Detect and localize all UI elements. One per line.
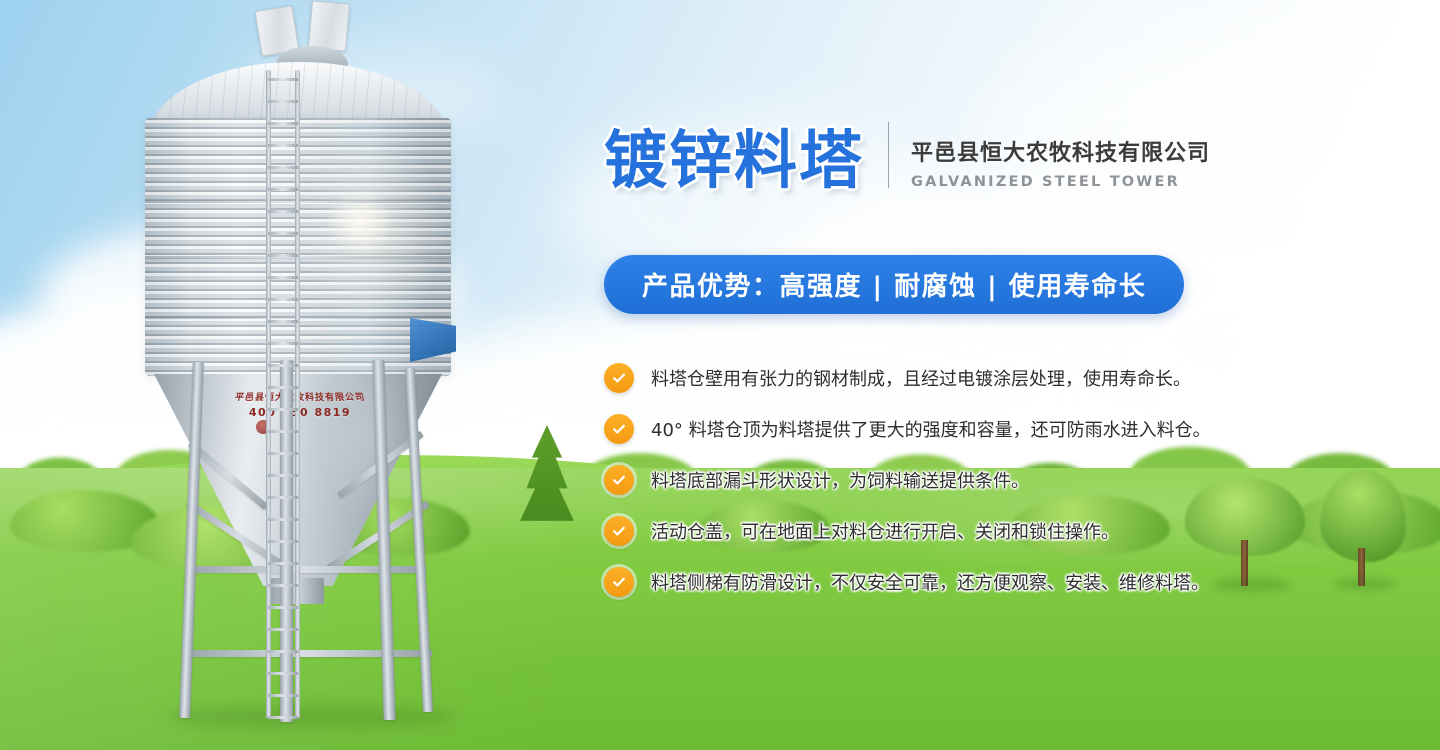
check-icon — [604, 414, 634, 444]
silo-leg — [405, 368, 433, 712]
ladder-rung — [268, 210, 298, 213]
headline-divider — [888, 122, 889, 188]
tree-shadow — [1334, 578, 1396, 590]
ladder-rung — [268, 320, 298, 323]
list-item: 40° 料塔仓顶为料塔提供了更大的强度和容量，还可防雨水进入料仓。 — [604, 403, 1304, 454]
ladder-rung — [268, 562, 298, 565]
ladder-rung — [268, 166, 298, 169]
ladder-rung — [268, 254, 298, 257]
ladder-rung — [268, 100, 298, 103]
ladder-rung — [268, 452, 298, 455]
ladder-rung — [268, 716, 298, 719]
silo-brand-text: 平邑县恒大农牧科技有限公司 — [218, 390, 382, 403]
list-item: 料塔侧梯有防滑设计，不仅安全可靠，还方便观察、安装、维修料塔。 — [604, 556, 1304, 607]
ladder-rung — [268, 672, 298, 675]
list-item: 料塔仓壁用有张力的钢材制成，且经过电镀涂层处理，使用寿命长。 — [604, 352, 1304, 403]
ladder-rung — [268, 408, 298, 411]
check-icon — [604, 567, 634, 597]
feature-text: 料塔底部漏斗形状设计，为饲料输送提供条件。 — [651, 467, 1029, 493]
ladder-rung — [268, 386, 298, 389]
ladder-rung — [268, 276, 298, 279]
ladder-rung — [268, 584, 298, 587]
ladder-rung — [268, 694, 298, 697]
page-title: 镀锌料塔 — [604, 129, 864, 192]
check-icon — [604, 516, 634, 546]
ladder-rung — [268, 496, 298, 499]
feature-text: 料塔仓壁用有张力的钢材制成，且经过电镀涂层处理，使用寿命长。 — [651, 365, 1191, 391]
ladder-rung — [268, 518, 298, 521]
promo-banner: 平邑县恒大农牧科技有限公司 400 850 8819 镀锌料塔 平邑县恒大农牧科… — [0, 0, 1440, 750]
company-block: 平邑县恒大农牧科技有限公司 GALVANIZED STEEL TOWER — [911, 140, 1210, 193]
company-name: 平邑县恒大农牧科技有限公司 — [911, 140, 1210, 168]
feature-text: 活动仓盖，可在地面上对料仓进行开启、关闭和锁住操作。 — [651, 518, 1119, 544]
ladder-rung — [268, 628, 298, 631]
ladder-rung — [268, 650, 298, 653]
ladder-rung — [268, 364, 298, 367]
list-item: 活动仓盖，可在地面上对料仓进行开启、关闭和锁住操作。 — [604, 505, 1304, 556]
ladder-rung — [268, 430, 298, 433]
ladder-rung — [268, 474, 298, 477]
ladder-rung — [268, 606, 298, 609]
ladder-rung — [268, 188, 298, 191]
ladder-rung — [268, 342, 298, 345]
product-photo-silo: 平邑县恒大农牧科技有限公司 400 850 8819 — [80, 0, 550, 750]
feature-text: 40° 料塔仓顶为料塔提供了更大的强度和容量，还可防雨水进入料仓。 — [651, 416, 1211, 442]
silo-brace — [184, 650, 432, 657]
ladder-rung — [268, 78, 298, 81]
check-icon — [604, 363, 634, 393]
silo-ground-shadow — [166, 706, 456, 728]
advantages-pill-text: 产品优势：高强度 | 耐腐蚀 | 使用寿命长 — [642, 266, 1146, 303]
headline-block: 镀锌料塔 平邑县恒大农牧科技有限公司 GALVANIZED STEEL TOWE… — [604, 122, 1210, 192]
ladder-rung — [268, 122, 298, 125]
list-item: 料塔底部漏斗形状设计，为饲料输送提供条件。 — [604, 454, 1304, 505]
feature-text: 料塔侧梯有防滑设计，不仅安全可靠，还方便观察、安装、维修料塔。 — [651, 569, 1209, 595]
silo-ladder — [266, 70, 300, 718]
ladder-rung — [268, 298, 298, 301]
ladder-rung — [268, 540, 298, 543]
silo-phone-text: 400 850 8819 — [230, 406, 370, 419]
feature-list: 料塔仓壁用有张力的钢材制成，且经过电镀涂层处理，使用寿命长。 40° 料塔仓顶为… — [604, 352, 1304, 607]
ladder-rung — [268, 232, 298, 235]
company-name-english: GALVANIZED STEEL TOWER — [911, 174, 1210, 190]
tree — [1316, 470, 1410, 588]
check-icon — [604, 465, 634, 495]
ladder-rung — [268, 144, 298, 147]
advantages-pill: 产品优势：高强度 | 耐腐蚀 | 使用寿命长 — [604, 255, 1184, 314]
silo-lid-handle-right — [308, 0, 350, 51]
